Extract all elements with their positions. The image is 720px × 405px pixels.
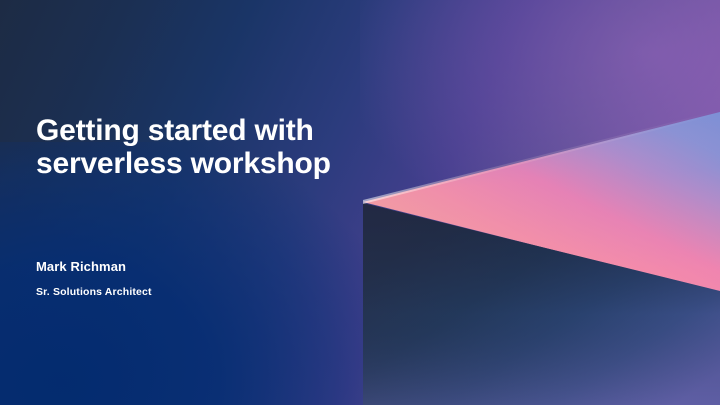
presenter-name: Mark Richman [36,258,126,275]
slide-text-block: Getting started with serverless workshop… [36,0,376,405]
page-title: Getting started with serverless workshop [36,114,331,180]
title-slide: Getting started with serverless workshop… [0,0,720,405]
presenter-role: Sr. Solutions Architect [36,285,152,299]
